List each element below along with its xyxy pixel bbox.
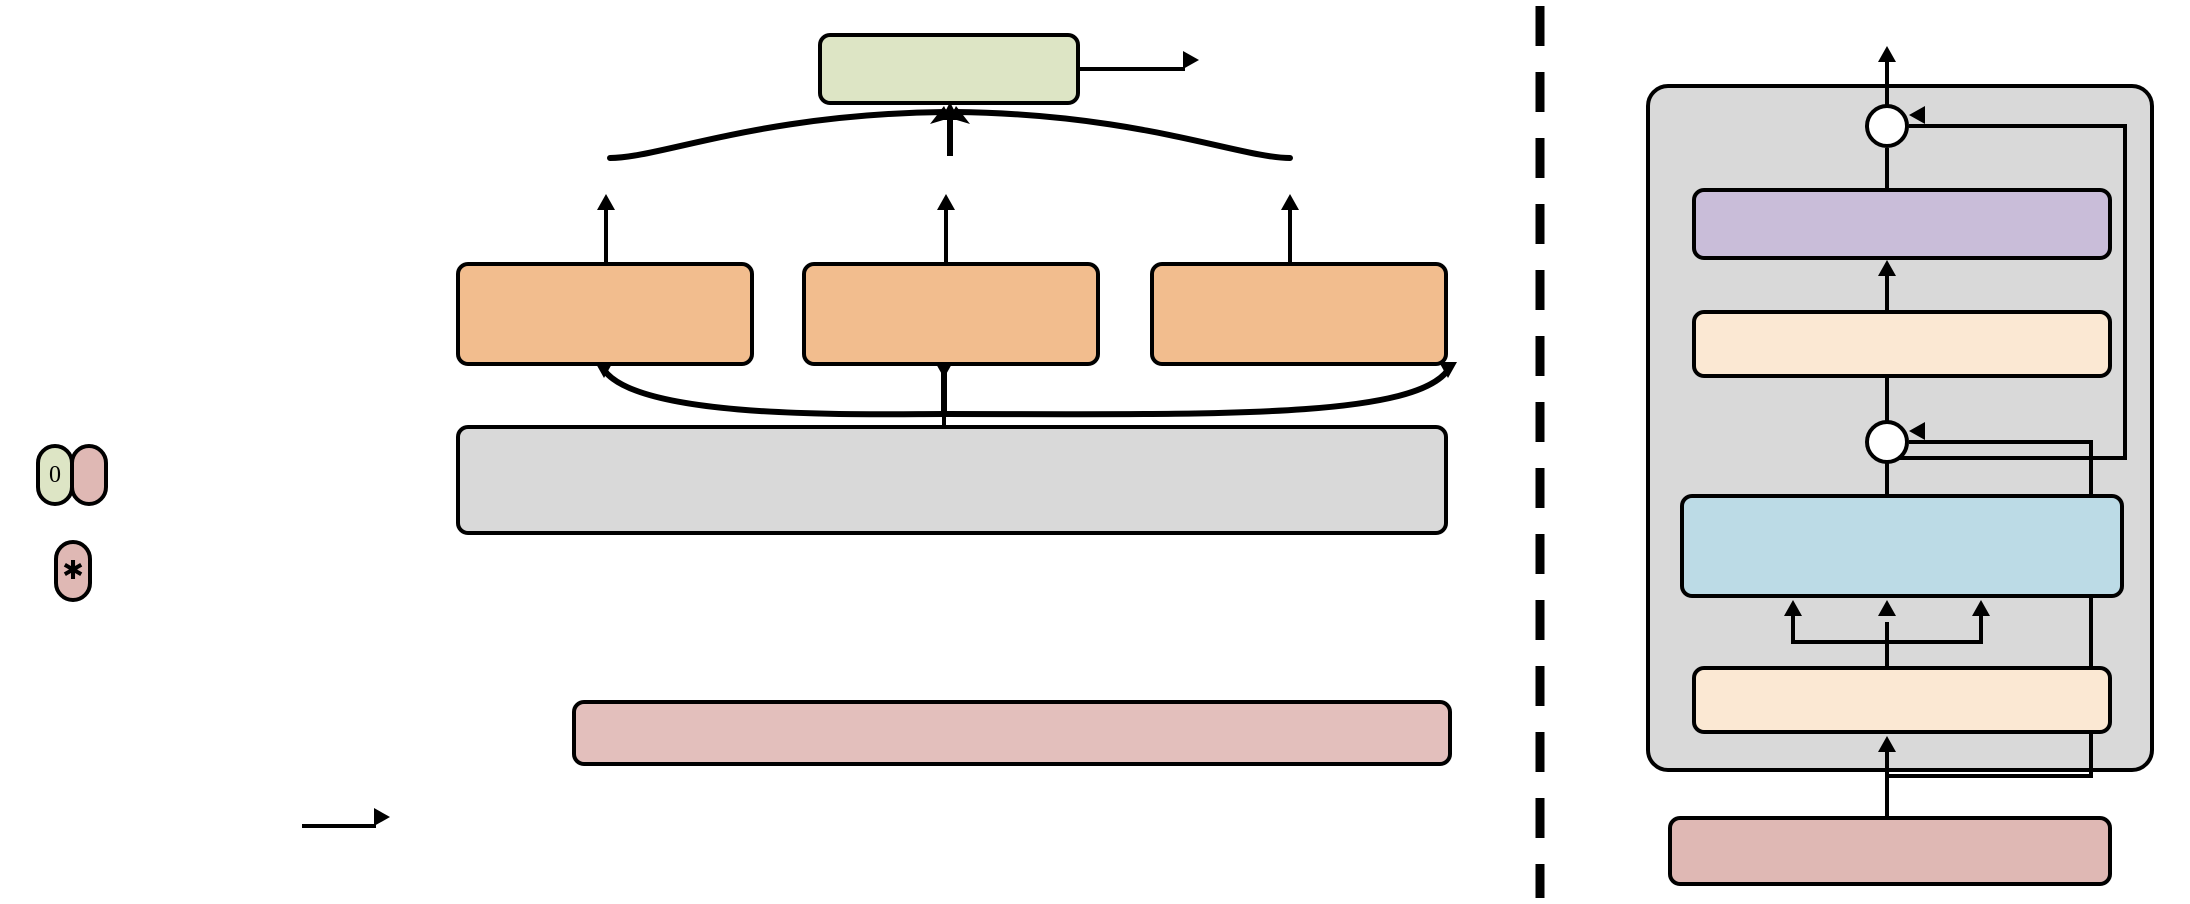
qkv-right-line: [1979, 614, 1983, 642]
skip-1-bottom: [1887, 774, 2093, 778]
wp-module-out-arrow: [1281, 194, 1299, 210]
qkv-left-line: [1791, 614, 1795, 642]
linear-projection-top-lines: [572, 660, 1452, 702]
image-to-patches-arrowhead: [374, 808, 390, 826]
qkv-center-line: [1885, 622, 1889, 668]
msa-to-add1-line: [1885, 460, 1889, 496]
legend-class-oval: ✱: [54, 540, 92, 602]
skip-1-horizontal: [1909, 440, 2093, 444]
qkv-right-arrow: [1972, 600, 1990, 616]
qkv-left-arrow: [1784, 600, 1802, 616]
char-module-out-arrow: [597, 194, 615, 210]
layer-norm-2-box[interactable]: [1692, 310, 2112, 378]
image-to-patches-line: [302, 824, 376, 828]
residual-add-2: [1865, 104, 1909, 148]
legend-patch-oval: [70, 444, 108, 506]
msa-box[interactable]: [1680, 494, 2124, 598]
encoder-in-line: [942, 406, 946, 426]
skip-2-arrowhead: [1909, 106, 1925, 124]
bpe-module-out-arrow: [937, 194, 955, 210]
ln2-to-mlp-arrow: [1878, 260, 1896, 276]
char-module-out-line: [604, 206, 608, 262]
token-row: [456, 535, 1448, 665]
mlp-box[interactable]: [1692, 188, 2112, 260]
linear-projection-bottom-lines: [572, 766, 1452, 800]
fusion-output-arrowhead: [1183, 51, 1199, 69]
skip-2-vertical: [2123, 124, 2127, 460]
linear-projection-box[interactable]: [572, 700, 1452, 766]
wordpiece-module-box[interactable]: [1150, 262, 1448, 366]
skip-2-horizontal: [1909, 124, 2127, 128]
skip-1-arrowhead: [1909, 422, 1925, 440]
source-image-grid: [16, 740, 268, 880]
qkv-branch-line: [1791, 640, 1983, 644]
qkv-center-arrow: [1878, 600, 1896, 616]
encoder-to-modules-connectors: [440, 362, 1500, 422]
layer-norm-1-box[interactable]: [1692, 666, 2112, 734]
patch-embeddings-box[interactable]: [1668, 816, 2112, 886]
bpe-module-box[interactable]: [802, 262, 1100, 366]
patch-thumbnail-row: [572, 800, 1452, 872]
bpe-module-out-line: [944, 206, 948, 262]
legend-position-oval: 0: [36, 444, 74, 506]
ln2-to-mlp-line: [1885, 272, 1889, 310]
wp-module-out-line: [1288, 206, 1292, 262]
character-module-box[interactable]: [456, 262, 754, 366]
transformer-encoder-box[interactable]: [456, 425, 1448, 535]
encoder-output-arrow: [1878, 46, 1896, 62]
patchemb-to-ln1-arrow: [1878, 736, 1896, 752]
patchemb-to-ln1-line: [1885, 748, 1889, 818]
residual-add-1: [1865, 420, 1909, 464]
panel-divider: [1530, 0, 1550, 904]
fusion-input-connectors: [600, 100, 1300, 160]
add1-to-ln2-line: [1885, 378, 1889, 422]
fusion-output-line: [1080, 67, 1185, 71]
mlp-to-add-line: [1885, 148, 1889, 190]
fusion-box[interactable]: [818, 33, 1080, 105]
